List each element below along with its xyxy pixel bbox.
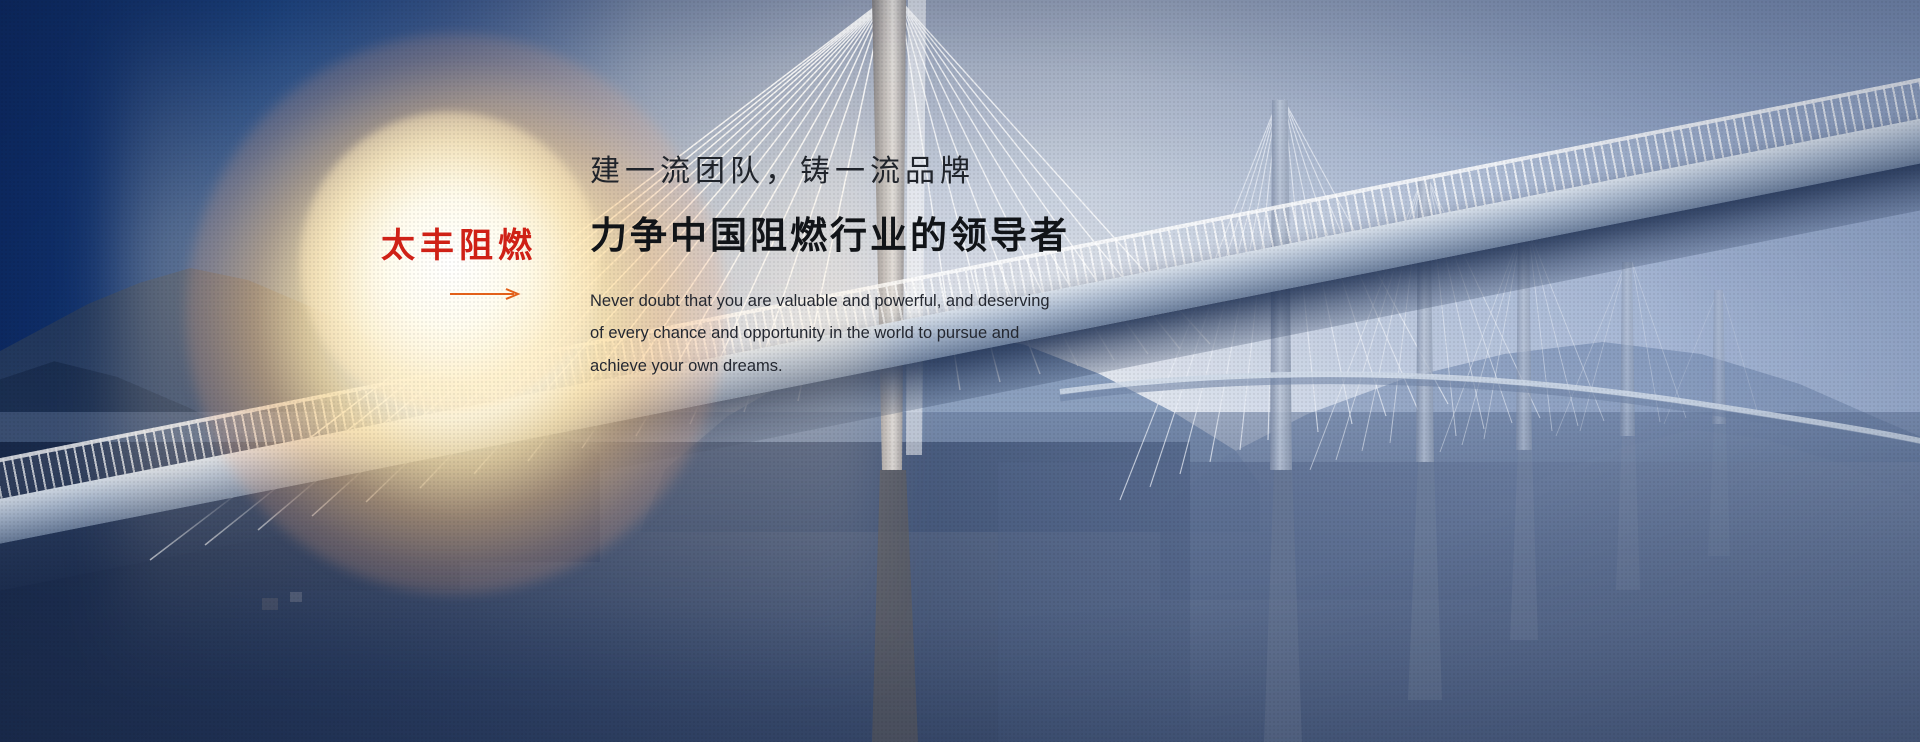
hero-description: Never doubt that you are valuable and po…: [590, 285, 1060, 382]
hero-description-line-2: of every chance and opportunity in the w…: [590, 317, 1060, 349]
hero-description-line-1: Never doubt that you are valuable and po…: [590, 285, 1060, 317]
hero-subheadline: 建一流团队，铸一流品牌: [590, 152, 1350, 191]
brand-logo[interactable]: 太丰阻燃: [376, 218, 542, 301]
hero-banner: 太丰阻燃 建一流团队，铸一流品牌 力争中国阻燃行业的领导者 Never doub…: [0, 0, 1920, 742]
banner-content: 太丰阻燃 建一流团队，铸一流品牌 力争中国阻燃行业的领导者 Never doub…: [0, 0, 1920, 742]
hero-description-line-3: achieve your own dreams.: [590, 350, 1060, 382]
brand-logo-text: 太丰阻燃: [376, 218, 542, 267]
hero-text-block: 建一流团队，铸一流品牌 力争中国阻燃行业的领导者 Never doubt tha…: [590, 152, 1350, 382]
arrow-right-icon: [450, 287, 522, 301]
hero-headline: 力争中国阻燃行业的领导者: [590, 213, 1350, 259]
